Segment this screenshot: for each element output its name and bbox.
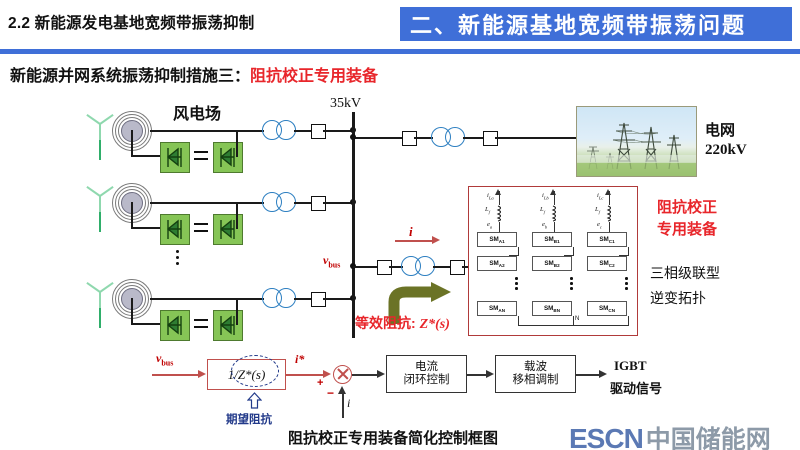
submodule-C1: SMC1	[587, 232, 627, 247]
submodule-A2: SMA2	[477, 256, 517, 271]
line-conv2-xfmr	[236, 202, 264, 204]
wind-farm-label: 风电场	[173, 100, 221, 124]
header-divider	[0, 49, 800, 54]
chapter-banner-label: 二、新能源基地宽频带振荡问题	[400, 8, 746, 40]
bus-node-grid	[350, 134, 356, 140]
control-vbus-line	[152, 374, 200, 376]
converter-block-rect-1b	[213, 142, 243, 173]
line-gen1-out	[150, 130, 236, 132]
submodule-A1: SMA1	[477, 232, 517, 247]
grid-label-line2: 220kV	[705, 142, 747, 159]
summer-plus-sign: +	[317, 377, 323, 389]
phase-c-ellipsis	[625, 277, 628, 292]
watermark-brand-cn: 中国储能网	[646, 420, 771, 450]
phase-a-bottom-h	[518, 325, 573, 326]
converter-block-rect-1a	[160, 142, 190, 173]
line-sum-block1	[352, 374, 380, 376]
current-arrow-line	[395, 240, 433, 242]
phase-c-emf-label: ec	[597, 221, 602, 229]
line-gen2-out	[150, 202, 236, 204]
measure-subtitle-black: 新能源并网系统振荡抑制措施三：	[10, 68, 250, 85]
converter-block-rect-3a	[160, 310, 190, 341]
line-gen3-down	[131, 298, 133, 324]
line-gen3-conv	[131, 323, 161, 325]
units-ellipsis	[176, 250, 179, 268]
bus-voltage-label: 35kV	[330, 96, 361, 112]
phase-a-arrow	[495, 189, 501, 195]
device-transformer	[401, 256, 435, 276]
measure-subtitle: 新能源并网系统振荡抑制措施三：阻抗校正专用装备	[10, 62, 378, 86]
turbine-blade	[86, 114, 100, 125]
desired-impedance-highlight	[231, 355, 279, 387]
control-vbus-arrow	[198, 370, 206, 378]
converter-block-rect-3b	[213, 310, 243, 341]
grid-label-line1: 电网	[705, 119, 735, 140]
current-loop-control-block: 电流 闭环控制	[386, 355, 467, 393]
phase-a-lead	[499, 222, 500, 232]
feedback-line	[342, 392, 344, 418]
feedback-arrow	[338, 386, 346, 394]
line-conv2-up	[236, 202, 238, 229]
phase-c-lead	[609, 222, 610, 232]
chapter-banner: 二、新能源基地宽频带振荡问题	[400, 7, 792, 41]
phase-b-arrow	[550, 189, 556, 195]
submodule-C2: SMC2	[587, 256, 627, 271]
turbine-blade	[86, 282, 100, 293]
desired-impedance-label: 期望阻抗	[226, 411, 272, 427]
line-conv3-up	[236, 298, 238, 325]
control-vbus-label: vbus	[156, 351, 173, 367]
slide-section-title: 2.2 新能源发电基地宽频带振荡抑制	[8, 11, 254, 33]
line-gen2-conv	[131, 227, 161, 229]
vbus-label: vbus	[323, 253, 340, 269]
carrier-line2: 移相调制	[513, 374, 559, 387]
line-gen1-down	[131, 130, 133, 156]
transformer-2	[262, 192, 296, 212]
diagram-caption: 阻抗校正专用装备简化控制框图	[288, 427, 498, 448]
carrier-line1: 载波	[524, 361, 547, 374]
line-xfmr3-breaker	[294, 298, 312, 300]
phase-a-inductor	[496, 205, 504, 221]
summer-minus-sign: −	[327, 386, 334, 400]
carrier-phase-shift-block: 载波 移相调制	[495, 355, 576, 393]
measure-subtitle-red: 阻抗校正专用装备	[250, 68, 378, 85]
transmission-tower-photo	[576, 106, 697, 177]
turbine-blade	[99, 292, 101, 308]
topology-label-line1: 三相级联型	[650, 263, 720, 283]
arrow-sum-block1	[377, 370, 385, 378]
line-bus-device	[353, 266, 378, 268]
phase-b-lead	[554, 222, 555, 232]
watermark-brand: ESCN	[569, 423, 643, 450]
submodule-B1: SMB1	[532, 232, 572, 247]
current-loop-line2: 闭环控制	[404, 374, 450, 387]
phase-a-current-label: iLa	[487, 192, 494, 200]
phase-b-emf-label: eb	[542, 221, 547, 229]
arrow-block1-block2	[486, 370, 494, 378]
phase-c-bottom-h	[573, 325, 629, 326]
device-title-line1: 阻抗校正	[657, 196, 717, 217]
submodule-B2: SMB2	[532, 256, 572, 271]
line-gen2-down	[131, 202, 133, 228]
line-conv3-xfmr	[236, 298, 264, 300]
output-label-line2: 驱动信号	[610, 378, 662, 397]
neutral-point-label: N	[575, 316, 579, 322]
output-label-line1: IGBT	[614, 358, 647, 374]
watermark: ESCN 中国储能网	[569, 420, 771, 450]
line-gen3-out	[150, 298, 236, 300]
dc-capacitor-3	[194, 317, 208, 335]
phase-c-arrow	[605, 189, 611, 195]
phase-b-current-label: iLb	[542, 192, 549, 200]
transformer-3	[262, 288, 296, 308]
line-gen1-conv	[131, 155, 161, 157]
summing-junction	[333, 365, 352, 384]
control-istar-arrow	[323, 370, 331, 378]
phase-b-inductor-label: Lf	[540, 206, 545, 214]
dc-capacitor-1	[194, 149, 208, 167]
converter-block-rect-2a	[160, 214, 190, 245]
submodule-CN: SMCN	[587, 301, 627, 316]
submodule-BN: SMBN	[532, 301, 572, 316]
grid-transformer	[431, 127, 465, 147]
current-label: i	[409, 224, 413, 240]
line-xfmr1-breaker	[294, 130, 312, 132]
current-arrow-head	[432, 236, 440, 244]
dc-capacitor-2	[194, 221, 208, 239]
phase-b-inductor	[551, 205, 559, 221]
converter-block-rect-2b	[213, 214, 243, 245]
desired-impedance-pointer-icon	[247, 392, 262, 409]
line-to-grid-photo	[495, 137, 577, 139]
impedance-correction-device-box: iLa Lf ea SMA1 SMA2 SMAN iLb Lf eb SMB1 …	[468, 186, 638, 336]
istar-label: i*	[295, 352, 304, 367]
slide-root: 2.2 新能源发电基地宽频带振荡抑制 二、新能源基地宽频带振荡问题 新能源并网系…	[0, 0, 800, 450]
control-istar-line	[286, 374, 326, 376]
line-conv1-up	[236, 130, 238, 157]
line-xfmr2-breaker	[294, 202, 312, 204]
arrow-block2-output	[599, 370, 607, 378]
line-device-xfmr-bk2	[433, 266, 451, 268]
line-conv1-xfmr	[236, 130, 264, 132]
transformer-1	[262, 120, 296, 140]
turbine-blade	[99, 196, 101, 212]
phase-c-inductor-label: Lf	[595, 206, 600, 214]
phase-a-ellipsis	[515, 277, 518, 292]
submodule-AN: SMAN	[477, 301, 517, 316]
phase-c-inductor	[606, 205, 614, 221]
collector-bus-bar	[352, 112, 355, 338]
line-bus-to-grid	[353, 137, 403, 139]
turbine-blade	[99, 124, 101, 140]
topology-label-line2: 逆变拓扑	[650, 288, 706, 308]
phase-b-ellipsis	[570, 277, 573, 292]
equivalent-impedance-label: 等效阻抗: Z*(s)	[355, 313, 450, 333]
phase-a-emf-label: ea	[487, 221, 492, 229]
turbine-blade	[86, 186, 100, 197]
feedback-label: i	[347, 396, 350, 411]
line-xfmr-grid-bk2	[463, 137, 484, 139]
current-loop-line1: 电流	[415, 361, 438, 374]
phase-c-current-label: iLc	[597, 192, 603, 200]
phase-a-inductor-label: Lf	[485, 206, 490, 214]
device-title-line2: 专用装备	[657, 218, 717, 239]
